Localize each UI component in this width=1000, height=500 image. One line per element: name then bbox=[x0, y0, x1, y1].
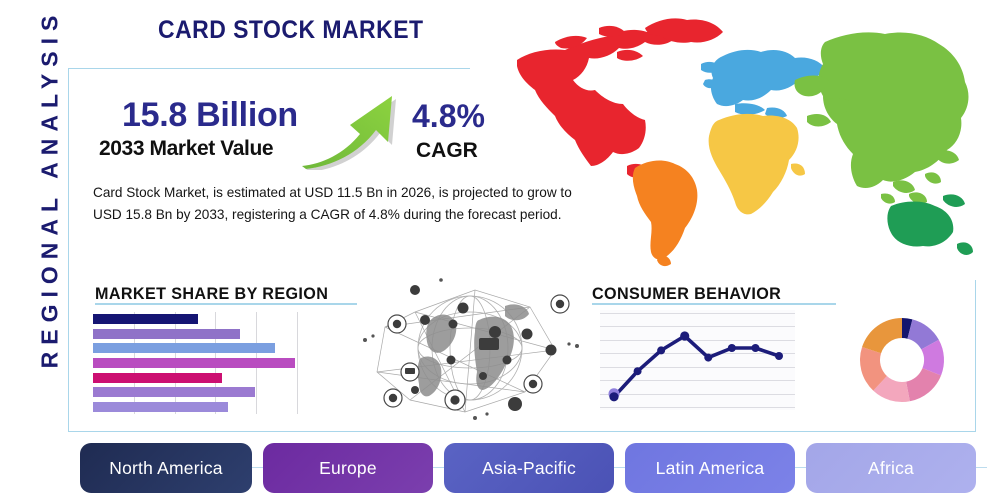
market-share-bar-chart bbox=[93, 312, 305, 414]
region-connector bbox=[433, 467, 444, 468]
region-button-africa[interactable]: Africa bbox=[806, 443, 976, 493]
bar-chart-row bbox=[93, 358, 295, 368]
bar-chart-row bbox=[93, 329, 240, 339]
line-marker bbox=[704, 354, 712, 362]
region-donut-chart bbox=[852, 310, 952, 410]
bar bbox=[93, 343, 275, 353]
section-title-consumer-behavior: CONSUMER BEHAVIOR bbox=[592, 284, 781, 304]
page-side-label: REGIONAL ANALYSIS bbox=[37, 0, 64, 389]
region-connector bbox=[252, 467, 263, 468]
infographic-root: REGIONAL ANALYSIS CARD STOCK MARKET 15.8… bbox=[0, 0, 1000, 500]
section-rule-consumer-behavior bbox=[592, 303, 836, 305]
line-marker bbox=[751, 344, 759, 352]
section-rule-market-share bbox=[95, 303, 357, 305]
line-marker bbox=[680, 331, 689, 340]
region-connector bbox=[795, 467, 806, 468]
line-marker bbox=[609, 392, 618, 401]
donut-segment bbox=[862, 318, 902, 353]
region-connector bbox=[614, 467, 625, 468]
bar-chart-row bbox=[93, 314, 198, 324]
market-value-caption: 2033 Market Value bbox=[99, 137, 273, 161]
bar-chart-row bbox=[93, 343, 275, 353]
region-button-asia-pacific[interactable]: Asia-Pacific bbox=[444, 443, 614, 493]
bar bbox=[93, 402, 228, 412]
region-connector-tail bbox=[976, 467, 987, 468]
growth-arrow-icon bbox=[300, 80, 410, 170]
line-chart-series bbox=[600, 310, 795, 410]
bar-chart-bars bbox=[93, 312, 305, 414]
region-button-europe[interactable]: Europe bbox=[263, 443, 433, 493]
line-marker bbox=[634, 367, 642, 375]
market-value-figure: 15.8 Billion bbox=[122, 96, 298, 135]
cagr-caption: CAGR bbox=[416, 139, 478, 163]
bar-chart-row bbox=[93, 387, 255, 397]
section-title-market-share: MARKET SHARE BY REGION bbox=[95, 284, 328, 304]
region-button-latin-america[interactable]: Latin America bbox=[625, 443, 795, 493]
bar bbox=[93, 314, 198, 324]
bar bbox=[93, 373, 222, 383]
global-network-icon bbox=[355, 272, 585, 422]
bar bbox=[93, 358, 295, 368]
page-title: CARD STOCK MARKET bbox=[158, 16, 424, 45]
bar bbox=[93, 387, 255, 397]
cagr-figure: 4.8% bbox=[412, 98, 485, 135]
region-button-bar: North AmericaEuropeAsia-PacificLatin Ame… bbox=[80, 443, 980, 493]
line-marker bbox=[775, 352, 783, 360]
bar-chart-row bbox=[93, 402, 228, 412]
line-marker bbox=[728, 344, 736, 352]
bar-chart-row bbox=[93, 373, 222, 383]
line-marker bbox=[657, 346, 665, 354]
region-button-north-america[interactable]: North America bbox=[80, 443, 252, 493]
bar bbox=[93, 329, 240, 339]
consumer-behavior-line-chart bbox=[600, 310, 795, 410]
world-map-icon bbox=[495, 8, 995, 270]
